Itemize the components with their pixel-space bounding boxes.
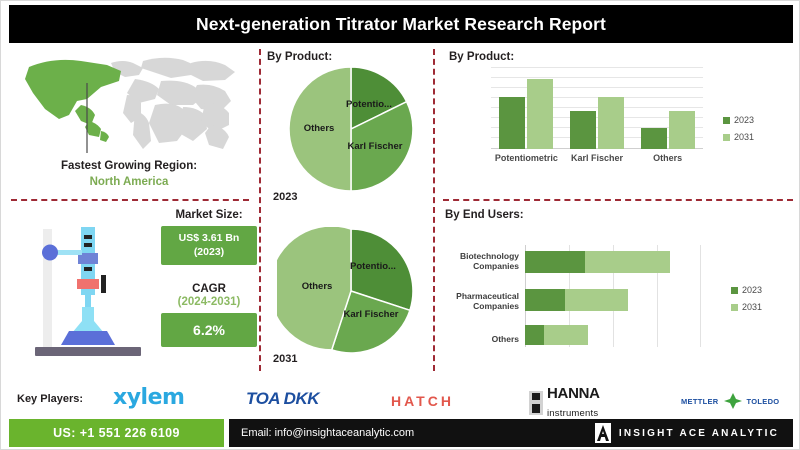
page-title: Next-generation Titrator Market Research… [196, 14, 606, 35]
legend-label-2031: 2031 [734, 132, 754, 142]
enduser-bar-biotechnology [525, 251, 701, 273]
pie-2031-slice-label-0: Potentio... [350, 261, 396, 272]
footer-email: Email: info@insightaceanalytic.com [241, 427, 414, 439]
bar-group-karl-fischer [562, 67, 633, 149]
mettler-star-icon [722, 391, 744, 411]
bar-2031-karl-fischer [598, 97, 624, 149]
divider-horizontal-right [443, 199, 793, 201]
legend-item-2023: 2023 [723, 115, 754, 125]
hanna-instruments-logo: HANNA instruments [529, 385, 600, 421]
bar-2023-others [641, 128, 667, 149]
region-label: Fastest Growing Region: [9, 159, 249, 173]
mettler-toledo-logo: METTLER TOLEDO [681, 391, 779, 411]
bar-group-others [632, 67, 703, 149]
brand-name: INSIGHT ACE ANALYTIC [619, 428, 779, 439]
toa-dkk-logo: TOA DKK [246, 389, 319, 409]
enduser-seg-2031-pharmaceutical [565, 289, 628, 311]
bar-group-potentiometric [491, 67, 562, 149]
enduser-legend-item-2031: 2031 [731, 302, 762, 312]
bar-section-title: By Product: [449, 51, 514, 63]
hatch-logo-text: HATCH [391, 393, 454, 409]
bar-2031-others [669, 111, 695, 149]
pie-2023-slice-label-2: Others [304, 123, 335, 134]
region-value: North America [9, 175, 249, 189]
market-size-year: (2023) [165, 246, 253, 260]
enduser-seg-2023-biotechnology [525, 251, 585, 273]
market-size-box: US$ 3.61 Bn (2023) [161, 226, 257, 265]
cagr-box: 6.2% [161, 313, 257, 347]
world-map-icon [15, 49, 243, 159]
report-header: Next-generation Titrator Market Research… [9, 5, 793, 43]
bar-chart-by-product [491, 67, 703, 149]
enduser-chart-legend: 2023 2031 [731, 285, 762, 319]
enduser-seg-2031-biotechnology [585, 251, 670, 273]
phone-banner: US: +1 551 226 6109 [9, 419, 224, 447]
insight-ace-a-logo [595, 423, 611, 443]
enduser-legend-swatch-2031 [731, 304, 738, 311]
divider-horizontal-left [11, 199, 249, 201]
footer-bar: Email: info@insightaceanalytic.com INSIG… [229, 419, 793, 447]
phone-number: US: +1 551 226 6109 [53, 426, 180, 440]
mettler-logo-text: METTLER [681, 397, 719, 406]
bar-2031-potentiometric [527, 79, 553, 149]
enduser-category-labels: Biotechnology Companies Pharmaceutical C… [441, 247, 519, 351]
enduser-legend-swatch-2023 [731, 287, 738, 294]
enduser-seg-2023-others [525, 325, 544, 345]
legend-item-2031: 2031 [723, 132, 754, 142]
enduser-section-title: By End Users: [445, 209, 524, 221]
toledo-logo-text: TOLEDO [747, 397, 780, 406]
enduser-seg-2031-others [544, 325, 588, 345]
xylem-logo: xylem [113, 385, 184, 410]
key-players-label: Key Players: [17, 393, 83, 405]
enduser-legend-item-2023: 2023 [731, 285, 762, 295]
bar-chart-legend: 2023 2031 [723, 115, 754, 149]
pie-2031-slice-label-2: Others [302, 281, 333, 292]
titration-apparatus-icon [17, 221, 157, 366]
bar-2023-karl-fischer [570, 111, 596, 149]
pie-2023-year: 2023 [273, 191, 297, 203]
market-size-value: US$ 3.61 Bn [165, 232, 253, 246]
pie-2023-slice-label-1: Karl Fischer [348, 141, 403, 152]
enduser-chart-plot [525, 245, 701, 347]
divider-vertical-left [259, 49, 261, 371]
enduser-seg-2023-pharmaceutical [525, 289, 565, 311]
pie-2023-slice-label-0: Potentio... [346, 99, 392, 110]
enduser-legend-label-2023: 2023 [742, 285, 762, 295]
cagr-label: CAGR [161, 283, 257, 295]
bar-2023-potentiometric [499, 97, 525, 149]
bar-xlabel-others: Others [632, 153, 703, 163]
market-size-label: Market Size: [161, 209, 257, 221]
pie-chart-2023: Potentio... Karl Fischer Others [277, 65, 425, 193]
pie-section-title: By Product: [267, 51, 332, 63]
enduser-label-others: Others [441, 327, 519, 351]
enduser-bar-others [525, 325, 701, 345]
enduser-legend-label-2031: 2031 [742, 302, 762, 312]
hanna-logo-subtext: instruments [547, 408, 598, 419]
divider-vertical-right [433, 49, 435, 371]
legend-swatch-2031 [723, 134, 730, 141]
xylem-logo-text: xylem [113, 385, 184, 410]
pie-2031-year: 2031 [273, 353, 297, 365]
pie-2031-slice-label-1: Karl Fischer [344, 309, 399, 320]
hatch-logo: HATCH [391, 393, 454, 409]
fastest-growing-region: Fastest Growing Region: North America [9, 159, 249, 190]
bar-xlabel-potentiometric: Potentiometric [491, 153, 562, 163]
cagr-period: (2024-2031) [161, 296, 257, 308]
toa-dkk-logo-text: TOA DKK [246, 389, 319, 409]
legend-swatch-2023 [723, 117, 730, 124]
infographic-page: Next-generation Titrator Market Research… [0, 0, 800, 450]
metrics-panel: Market Size: US$ 3.61 Bn (2023) CAGR (20… [161, 209, 257, 347]
enduser-label-pharmaceutical: Pharmaceutical Companies [441, 287, 519, 315]
legend-label-2023: 2023 [734, 115, 754, 125]
brand-block: INSIGHT ACE ANALYTIC [595, 423, 779, 443]
pie-chart-2031: Potentio... Karl Fischer Others [277, 227, 425, 355]
hanna-logo-text: HANNA [547, 385, 600, 402]
enduser-bar-pharmaceutical [525, 289, 701, 311]
bar-xlabel-karl-fischer: Karl Fischer [562, 153, 633, 163]
enduser-label-biotechnology: Biotechnology Companies [441, 247, 519, 275]
hanna-mark-icon [529, 391, 543, 415]
